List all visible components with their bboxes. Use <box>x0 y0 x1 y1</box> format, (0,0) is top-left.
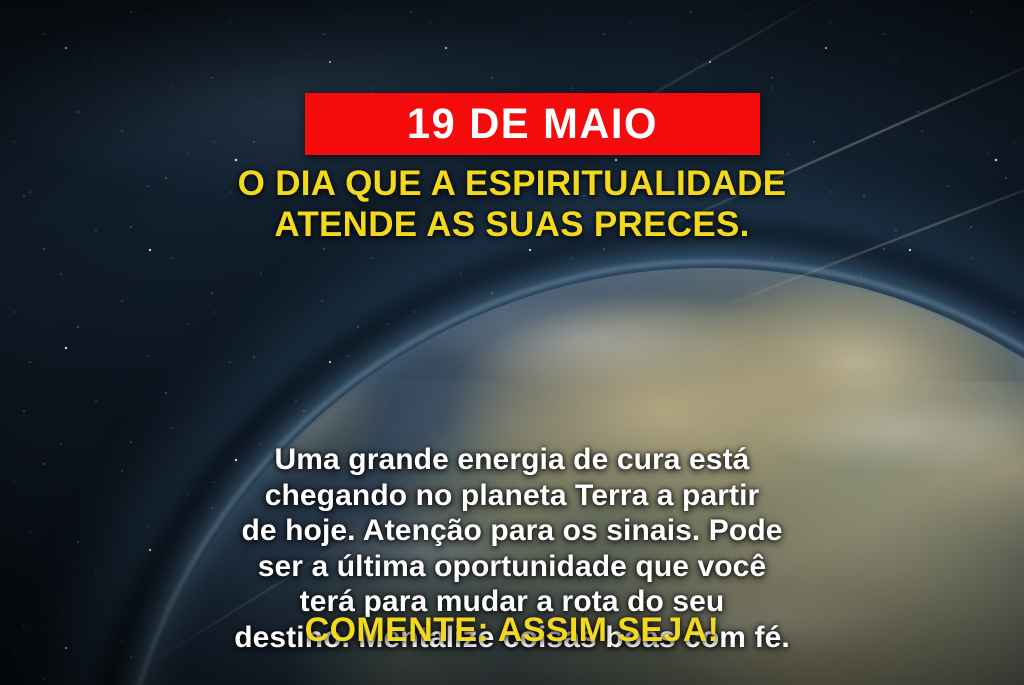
headline-line-2: ATENDE AS SUAS PRECES. <box>0 205 1024 246</box>
headline-line-1: O DIA QUE A ESPIRITUALIDADE <box>0 164 1024 205</box>
date-banner: 19 DE MAIO <box>305 93 760 155</box>
body-line-1: Uma grande energia de cura está <box>46 442 978 478</box>
date-banner-label: 19 DE MAIO <box>407 103 658 146</box>
poster-content: 19 DE MAIO O DIA QUE A ESPIRITUALIDADE A… <box>0 0 1024 685</box>
call-to-action-text: COMENTE: ASSIM SEJA! <box>0 613 1024 647</box>
headline: O DIA QUE A ESPIRITUALIDADE ATENDE AS SU… <box>0 164 1024 245</box>
body-line-4: ser a última oportunidade que você <box>46 549 978 585</box>
poster-canvas: 19 DE MAIO O DIA QUE A ESPIRITUALIDADE A… <box>0 0 1024 685</box>
body-line-2: chegando no planeta Terra a partir <box>46 478 978 514</box>
body-line-3: de hoje. Atenção para os sinais. Pode <box>46 513 978 549</box>
